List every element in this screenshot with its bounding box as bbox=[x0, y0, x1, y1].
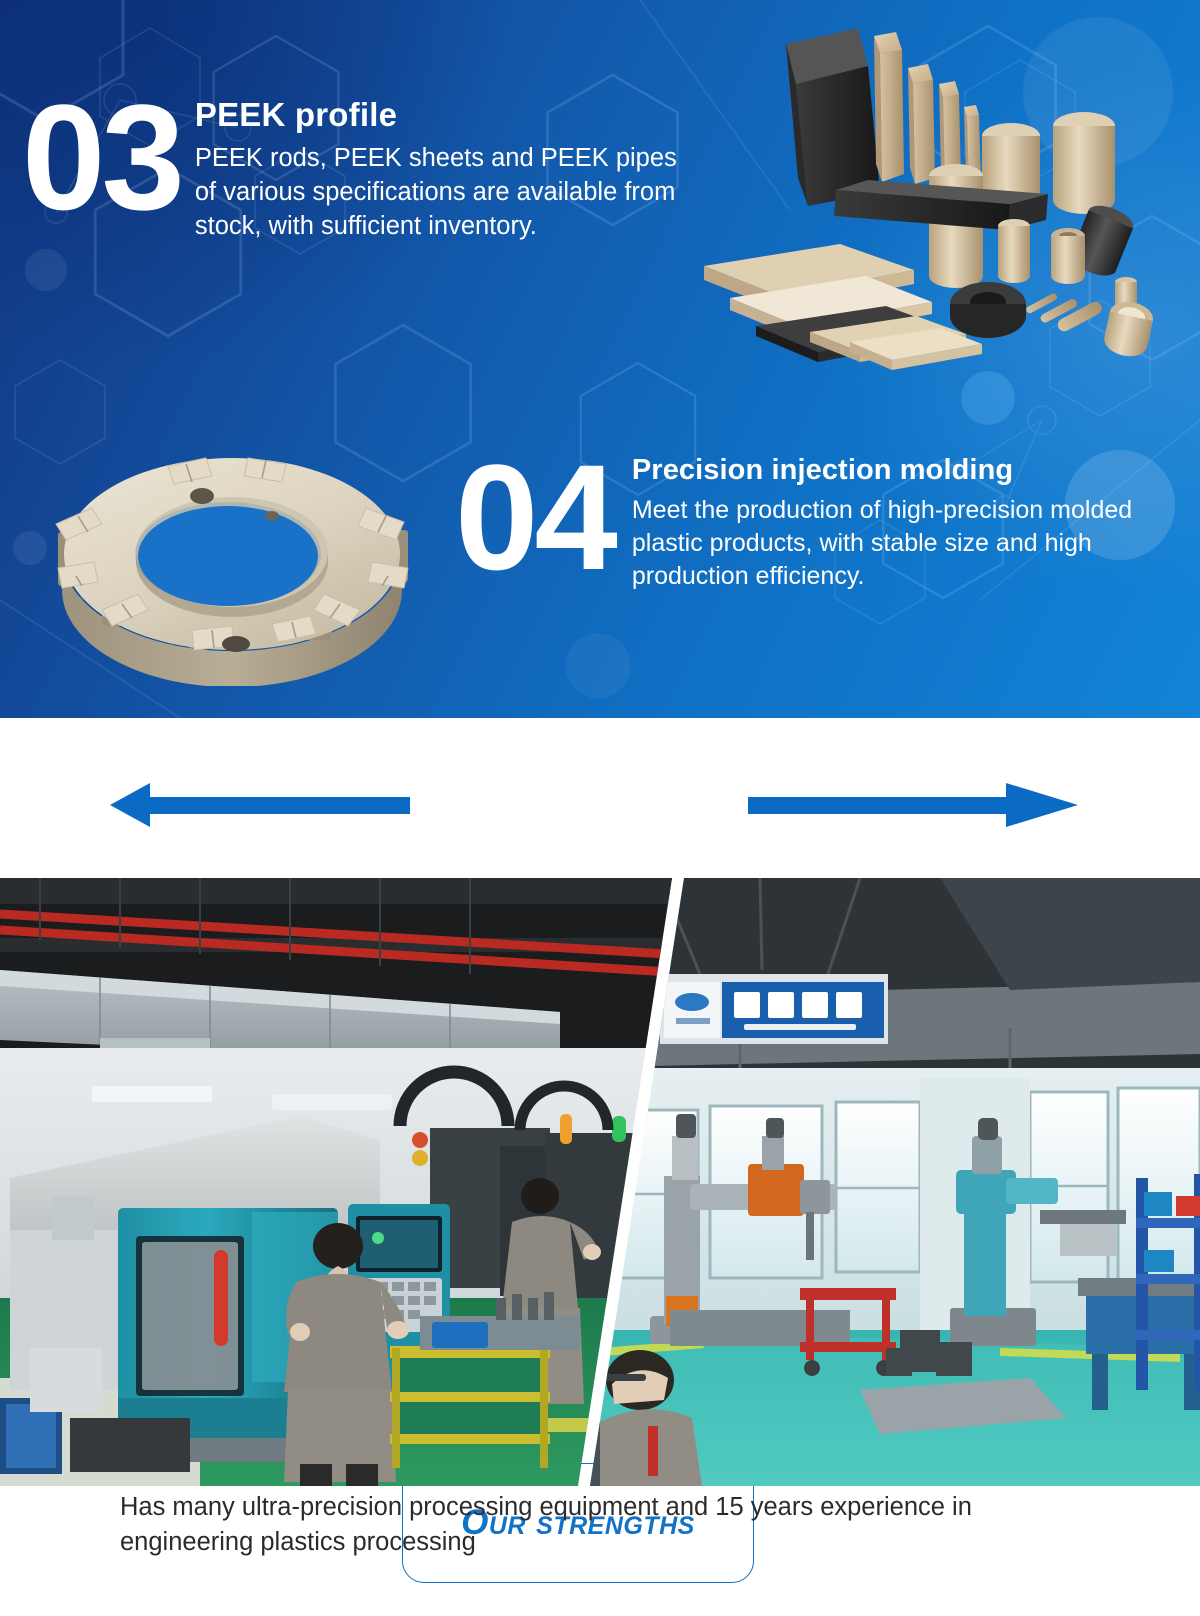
feature-title-03: PEEK profile bbox=[195, 96, 682, 134]
peek-stock-shapes-photo bbox=[690, 14, 1190, 374]
bottom-caption: Has many ultra-precision processing equi… bbox=[0, 1490, 1200, 1560]
feature-block-04: 04 Precision injection molding Meet the … bbox=[455, 440, 1175, 593]
left-arrow-icon bbox=[110, 783, 410, 827]
strengths-banner: Our strengths bbox=[0, 718, 1200, 878]
mold-workshop-sign bbox=[660, 974, 888, 1044]
feature-title-04: Precision injection molding bbox=[632, 454, 1175, 487]
feature-block-03: 03 PEEK profile PEEK rods, PEEK sheets a… bbox=[22, 78, 682, 244]
feature-body-04: Meet the production of high-precision mo… bbox=[632, 494, 1175, 593]
hero-section: 03 PEEK profile PEEK rods, PEEK sheets a… bbox=[0, 0, 1200, 718]
double-arrow-graphic bbox=[0, 718, 1200, 878]
peek-gear-ring-photo bbox=[36, 404, 428, 686]
feature-body-03: PEEK rods, PEEK sheets and PEEK pipes of… bbox=[195, 142, 682, 244]
feature-number-03: 03 bbox=[22, 90, 181, 225]
workshop-photo-pair bbox=[0, 878, 1200, 1486]
feature-number-04: 04 bbox=[455, 450, 614, 585]
right-arrow-icon bbox=[748, 783, 1078, 827]
